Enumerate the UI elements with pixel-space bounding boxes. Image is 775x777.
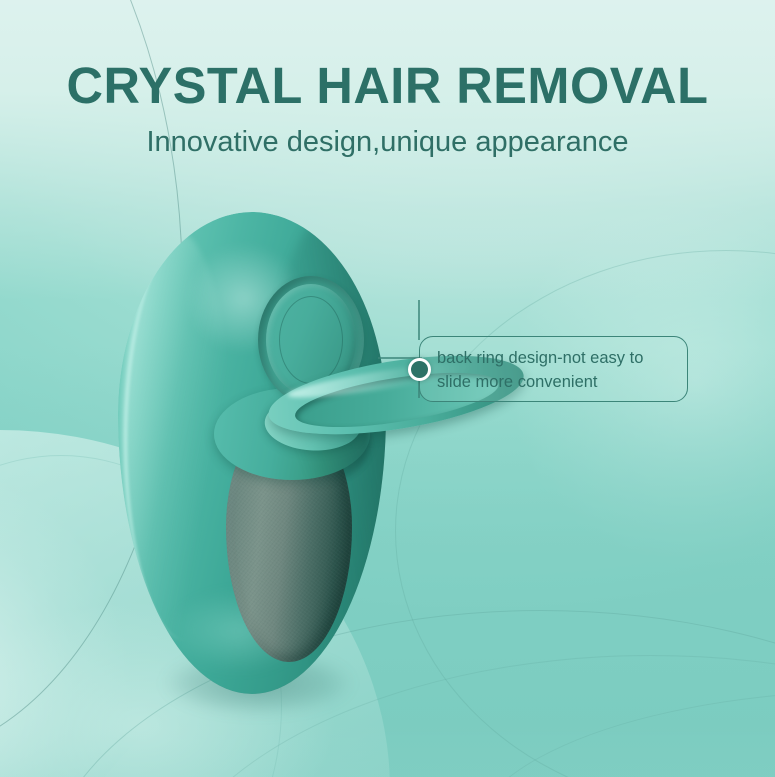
heading-block: CRYSTAL HAIR REMOVAL Innovative design,u… bbox=[0, 60, 775, 157]
product-device bbox=[118, 212, 386, 694]
page-title: CRYSTAL HAIR REMOVAL bbox=[4, 60, 771, 111]
feature-callout-box: back ring design-not easy to slide more … bbox=[419, 336, 688, 402]
product-poster: CRYSTAL HAIR REMOVAL Innovative design,u… bbox=[0, 0, 775, 777]
callout-leader-vertical-top bbox=[418, 300, 420, 340]
page-subtitle: Innovative design,unique appearance bbox=[0, 128, 775, 157]
callout-text: back ring design-not easy to slide more … bbox=[437, 346, 675, 394]
callout-anchor-dot-icon bbox=[408, 358, 431, 381]
